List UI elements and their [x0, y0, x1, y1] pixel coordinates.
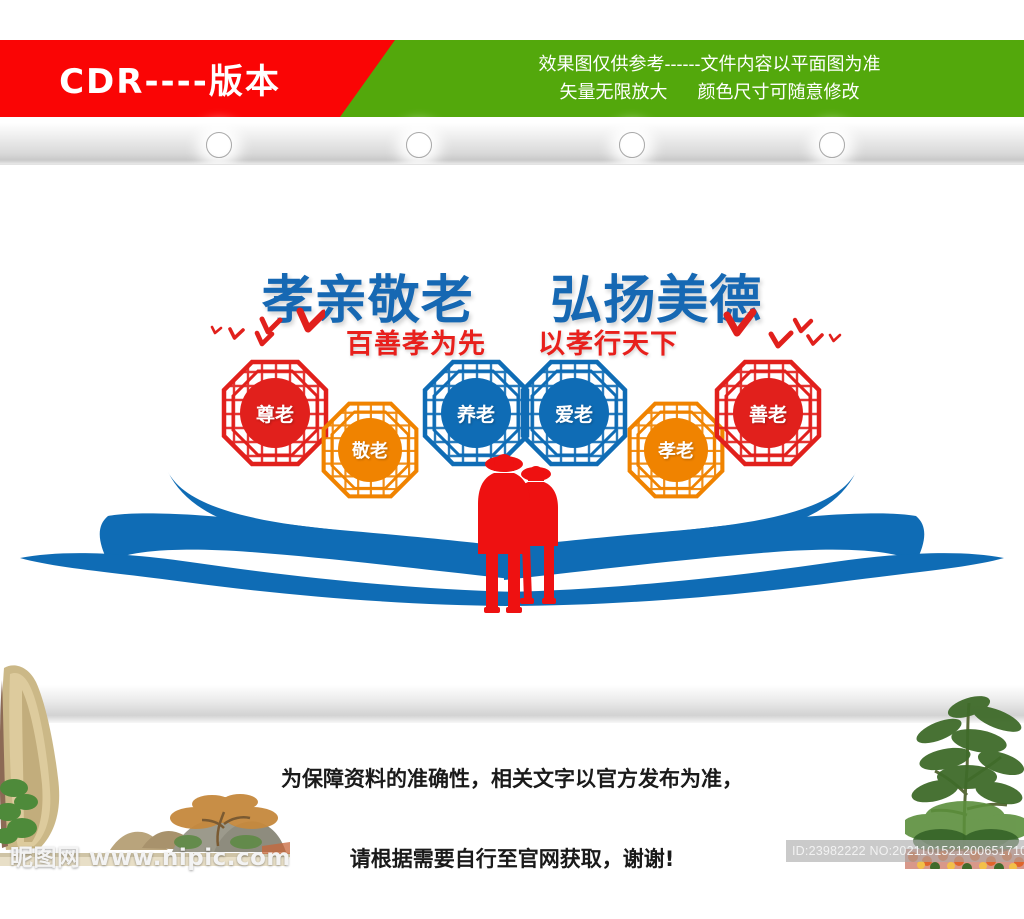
image-id-badge: ID:23982222 NO:20211015212006517107 — [786, 840, 1024, 862]
banner-notice-line-2: 矢量无限放大 颜色尺寸可随意修改 — [559, 79, 859, 107]
page-subtitle: 百善孝为先 以孝行天下 — [0, 322, 1024, 361]
elderly-couple-silhouette-icon — [470, 450, 580, 620]
ceiling-light-icon-3 — [619, 132, 645, 158]
ceiling-light-icon-1 — [206, 132, 232, 158]
ceiling-light-icon-4 — [819, 132, 845, 158]
ceiling-strip — [0, 123, 1024, 165]
site-watermark: 昵图网 www.nipic.com — [10, 838, 291, 872]
flying-birds-right-icon — [723, 303, 848, 353]
ceiling-light-icon-2 — [406, 132, 432, 158]
banner-notice-line-1: 效果图仅供参考------文件内容以平面图为准 — [539, 51, 881, 79]
top-banner: CDR----版本 效果图仅供参考------文件内容以平面图为准 矢量无限放大… — [0, 40, 1024, 117]
banner-notice: 效果图仅供参考------文件内容以平面图为准 矢量无限放大 颜色尺寸可随意修改 — [395, 40, 1024, 117]
flying-birds-left-icon — [205, 303, 325, 353]
banner-version-label: CDR----版本 — [0, 40, 340, 117]
